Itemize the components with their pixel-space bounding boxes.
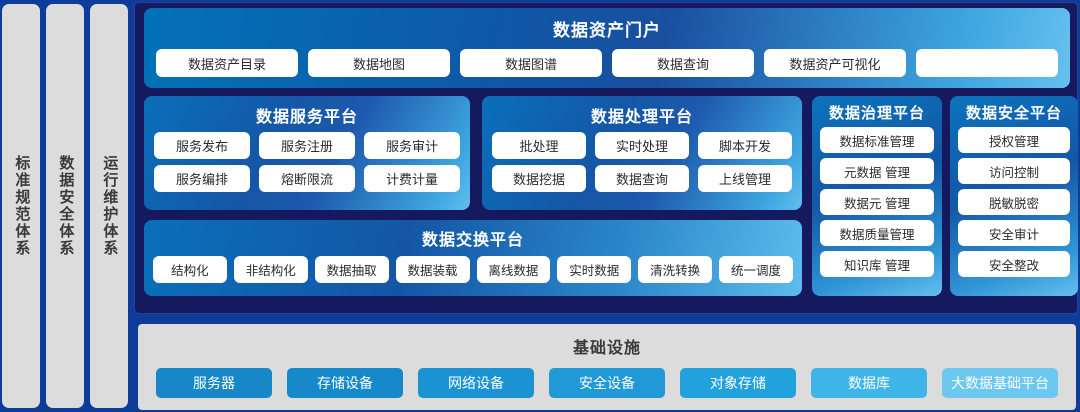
chip-batch-processing[interactable]: 批处理 (492, 132, 586, 159)
chip-data-mining[interactable]: 数据挖据 (492, 165, 586, 192)
chip-cleansing-transform[interactable]: 清洗转换 (638, 256, 712, 283)
platform-middle-region: 数据服务平台 服务发布 服务注册 服务审计 服务编排 熔断限流 计费计量 数据处… (144, 96, 1070, 308)
data-asset-portal-panel[interactable]: 数据资产门户 数据资产目录 数据地图 数据图谱 数据查询 数据资产可视化 (144, 8, 1070, 88)
portal-chip-visualization[interactable]: 数据资产可视化 (764, 49, 906, 77)
data-security-platform-items: 授权管理 访问控制 脱敏脱密 安全审计 安全整改 (950, 123, 1078, 277)
chip-object-storage[interactable]: 对象存储 (680, 368, 796, 398)
chip-desensitization[interactable]: 脱敏脱密 (958, 189, 1070, 215)
chip-service-orchestration[interactable]: 服务编排 (154, 165, 250, 192)
chip-storage-device[interactable]: 存储设备 (287, 368, 403, 398)
data-service-platform-chips: 服务发布 服务注册 服务审计 服务编排 熔断限流 计费计量 (144, 127, 470, 192)
chip-service-register[interactable]: 服务注册 (259, 132, 355, 159)
data-processing-platform-chips: 批处理 实时处理 脚本开发 数据挖据 数据查询 上线管理 (482, 127, 802, 192)
data-processing-platform-panel[interactable]: 数据处理平台 批处理 实时处理 脚本开发 数据挖据 数据查询 上线管理 (482, 96, 802, 210)
chip-realtime-processing[interactable]: 实时处理 (595, 132, 689, 159)
chip-security-device[interactable]: 安全设备 (549, 368, 665, 398)
chip-database[interactable]: 数据库 (811, 368, 927, 398)
data-governance-platform-panel[interactable]: 数据治理平台 数据标准管理 元数据 管理 数据元 管理 数据质量管理 知识库 管… (812, 96, 942, 296)
portal-chip-query[interactable]: 数据查询 (612, 49, 754, 77)
chip-unified-scheduling[interactable]: 统一调度 (719, 256, 793, 283)
data-governance-platform-items: 数据标准管理 元数据 管理 数据元 管理 数据质量管理 知识库 管理 (812, 123, 942, 277)
chip-knowledge-base-management[interactable]: 知识库 管理 (820, 251, 934, 277)
chip-access-control[interactable]: 访问控制 (958, 158, 1070, 184)
data-governance-platform-title: 数据治理平台 (812, 96, 942, 123)
chip-service-publish[interactable]: 服务发布 (154, 132, 250, 159)
pillar-operations-label: 运行维护体系 (100, 155, 119, 257)
data-security-platform-title: 数据安全平台 (950, 96, 1078, 123)
portal-chip-empty[interactable] (916, 49, 1058, 77)
chip-structured[interactable]: 结构化 (153, 256, 227, 283)
data-processing-platform-title: 数据处理平台 (482, 96, 802, 127)
data-exchange-platform-panel[interactable]: 数据交换平台 结构化 非结构化 数据抽取 数据装载 离线数据 实时数据 清洗转换… (144, 220, 802, 296)
data-service-platform-row-2: 服务编排 熔断限流 计费计量 (154, 165, 460, 192)
portal-chip-row: 数据资产目录 数据地图 数据图谱 数据查询 数据资产可视化 (144, 41, 1070, 77)
chip-billing-metering[interactable]: 计费计量 (364, 165, 460, 192)
chip-offline-data[interactable]: 离线数据 (477, 256, 551, 283)
chip-realtime-data[interactable]: 实时数据 (557, 256, 631, 283)
data-service-platform-panel[interactable]: 数据服务平台 服务发布 服务注册 服务审计 服务编排 熔断限流 计费计量 (144, 96, 470, 210)
chip-data-query[interactable]: 数据查询 (595, 165, 689, 192)
data-security-platform-panel[interactable]: 数据安全平台 授权管理 访问控制 脱敏脱密 安全审计 安全整改 (950, 96, 1078, 296)
pillar-operations[interactable]: 运行维护体系 (90, 4, 128, 408)
portal-chip-catalog[interactable]: 数据资产目录 (156, 49, 298, 77)
data-processing-platform-row-2: 数据挖据 数据查询 上线管理 (492, 165, 792, 192)
chip-circuit-breaker[interactable]: 熔断限流 (259, 165, 355, 192)
chip-data-loading[interactable]: 数据装载 (396, 256, 470, 283)
chip-data-element-management[interactable]: 数据元 管理 (820, 189, 934, 215)
pillar-data-security[interactable]: 数据安全体系 (46, 4, 84, 408)
chip-security-rectification[interactable]: 安全整改 (958, 251, 1070, 277)
chip-network-device[interactable]: 网络设备 (418, 368, 534, 398)
chip-server[interactable]: 服务器 (156, 368, 272, 398)
chip-metadata-management[interactable]: 元数据 管理 (820, 158, 934, 184)
chip-data-quality-management[interactable]: 数据质量管理 (820, 220, 934, 246)
pillar-standards-label: 标准规范体系 (12, 155, 31, 257)
chip-security-audit[interactable]: 安全审计 (958, 220, 1070, 246)
pillar-data-security-label: 数据安全体系 (56, 155, 75, 257)
infrastructure-chip-row: 服务器 存储设备 网络设备 安全设备 对象存储 数据库 大数据基础平台 (138, 358, 1076, 398)
data-service-platform-title: 数据服务平台 (144, 96, 470, 127)
portal-chip-map[interactable]: 数据地图 (308, 49, 450, 77)
data-exchange-platform-items: 结构化 非结构化 数据抽取 数据装载 离线数据 实时数据 清洗转换 统一调度 (144, 250, 802, 283)
data-exchange-platform-title: 数据交换平台 (144, 220, 802, 250)
chip-authorization-management[interactable]: 授权管理 (958, 127, 1070, 153)
infrastructure-panel: 基础设施 服务器 存储设备 网络设备 安全设备 对象存储 数据库 大数据基础平台 (138, 324, 1076, 410)
chip-release-management[interactable]: 上线管理 (698, 165, 792, 192)
chip-unstructured[interactable]: 非结构化 (234, 256, 308, 283)
chip-service-audit[interactable]: 服务审计 (364, 132, 460, 159)
pillar-standards[interactable]: 标准规范体系 (2, 4, 40, 408)
data-service-platform-row-1: 服务发布 服务注册 服务审计 (154, 132, 460, 159)
chip-data-extraction[interactable]: 数据抽取 (315, 256, 389, 283)
infrastructure-title: 基础设施 (138, 324, 1076, 358)
chip-data-standard-management[interactable]: 数据标准管理 (820, 127, 934, 153)
chip-script-development[interactable]: 脚本开发 (698, 132, 792, 159)
data-processing-platform-row-1: 批处理 实时处理 脚本开发 (492, 132, 792, 159)
data-asset-portal-title: 数据资产门户 (144, 8, 1070, 41)
portal-chip-graph[interactable]: 数据图谱 (460, 49, 602, 77)
architecture-diagram: 标准规范体系 数据安全体系 运行维护体系 数据资产门户 数据资产目录 数据地图 … (0, 0, 1080, 412)
chip-bigdata-platform[interactable]: 大数据基础平台 (942, 368, 1058, 398)
